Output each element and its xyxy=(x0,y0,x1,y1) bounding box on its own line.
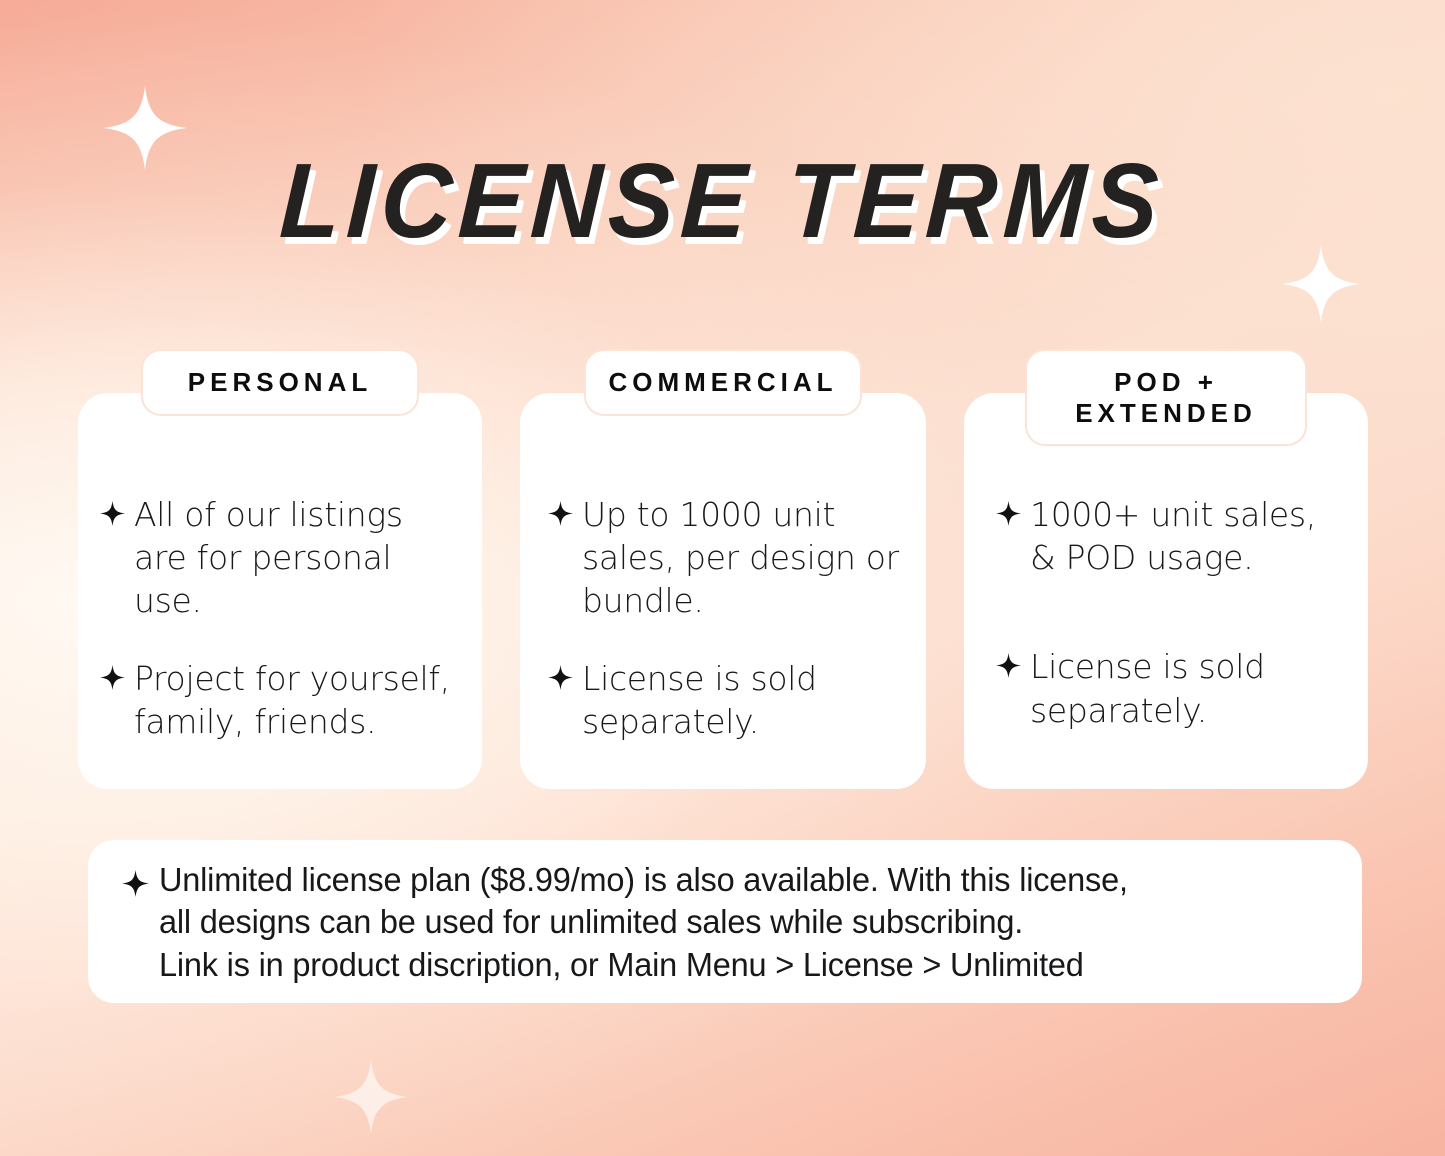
license-terms-poster: LICENSE TERMS PERSONAL All of our listin… xyxy=(0,0,1445,1156)
list-item-text: License is sold separately. xyxy=(582,657,900,743)
sparkle-bullet-icon xyxy=(100,501,125,526)
license-card-pod-extended: POD + EXTENDED 1000+ unit sales, & POD u… xyxy=(964,393,1368,789)
badge-label-commercial: COMMERCIAL xyxy=(608,367,838,398)
page-title: LICENSE TERMS xyxy=(278,148,1167,254)
sparkle-bottom-icon xyxy=(334,1060,408,1134)
sparkle-bullet-icon xyxy=(996,653,1021,678)
list-item: License is sold separately. xyxy=(548,657,900,743)
badge-label-pod-extended: POD + EXTENDED xyxy=(1049,367,1283,428)
list-item-text: Project for yourself, family, friends. xyxy=(134,657,456,743)
list-item-text: Up to 1000 unit sales, per design or bun… xyxy=(582,493,900,623)
badge-label-personal: PERSONAL xyxy=(165,367,395,398)
list-item-text: 1000+ unit sales, & POD usage. xyxy=(1030,493,1342,579)
unlimited-plan-text: Unlimited license plan ($8.99/mo) is als… xyxy=(159,859,1128,987)
page-title-wrap: LICENSE TERMS xyxy=(0,148,1445,254)
sparkle-bullet-icon xyxy=(122,870,149,897)
sparkle-right-icon xyxy=(1282,245,1360,323)
badge-pod-extended: POD + EXTENDED xyxy=(1025,349,1307,446)
badge-commercial: COMMERCIAL xyxy=(584,349,862,416)
license-card-row: PERSONAL All of our listings are for per… xyxy=(78,393,1368,789)
badge-personal: PERSONAL xyxy=(141,349,419,416)
license-card-personal: PERSONAL All of our listings are for per… xyxy=(78,393,482,789)
sparkle-bullet-icon xyxy=(548,501,573,526)
license-card-commercial: COMMERCIAL Up to 1000 unit sales, per de… xyxy=(520,393,926,789)
list-item: License is sold separately. xyxy=(996,645,1342,731)
card-body-personal: All of our listings are for personal use… xyxy=(78,493,482,743)
list-item-text: License is sold separately. xyxy=(1030,645,1342,731)
card-body-pod-extended: 1000+ unit sales, & POD usage. License i… xyxy=(964,493,1368,798)
sparkle-bullet-icon xyxy=(100,665,125,690)
unlimited-plan-banner: Unlimited license plan ($8.99/mo) is als… xyxy=(88,840,1362,1003)
sparkle-bullet-icon xyxy=(548,665,573,690)
list-item: Project for yourself, family, friends. xyxy=(100,657,456,743)
list-item: 1000+ unit sales, & POD usage. xyxy=(996,493,1342,579)
list-item-text: All of our listings are for personal use… xyxy=(134,493,456,623)
card-body-commercial: Up to 1000 unit sales, per design or bun… xyxy=(520,493,926,743)
sparkle-bullet-icon xyxy=(996,501,1021,526)
list-item: Up to 1000 unit sales, per design or bun… xyxy=(548,493,900,623)
list-item: All of our listings are for personal use… xyxy=(100,493,456,623)
unlimited-plan-banner-inner: Unlimited license plan ($8.99/mo) is als… xyxy=(122,857,1143,987)
